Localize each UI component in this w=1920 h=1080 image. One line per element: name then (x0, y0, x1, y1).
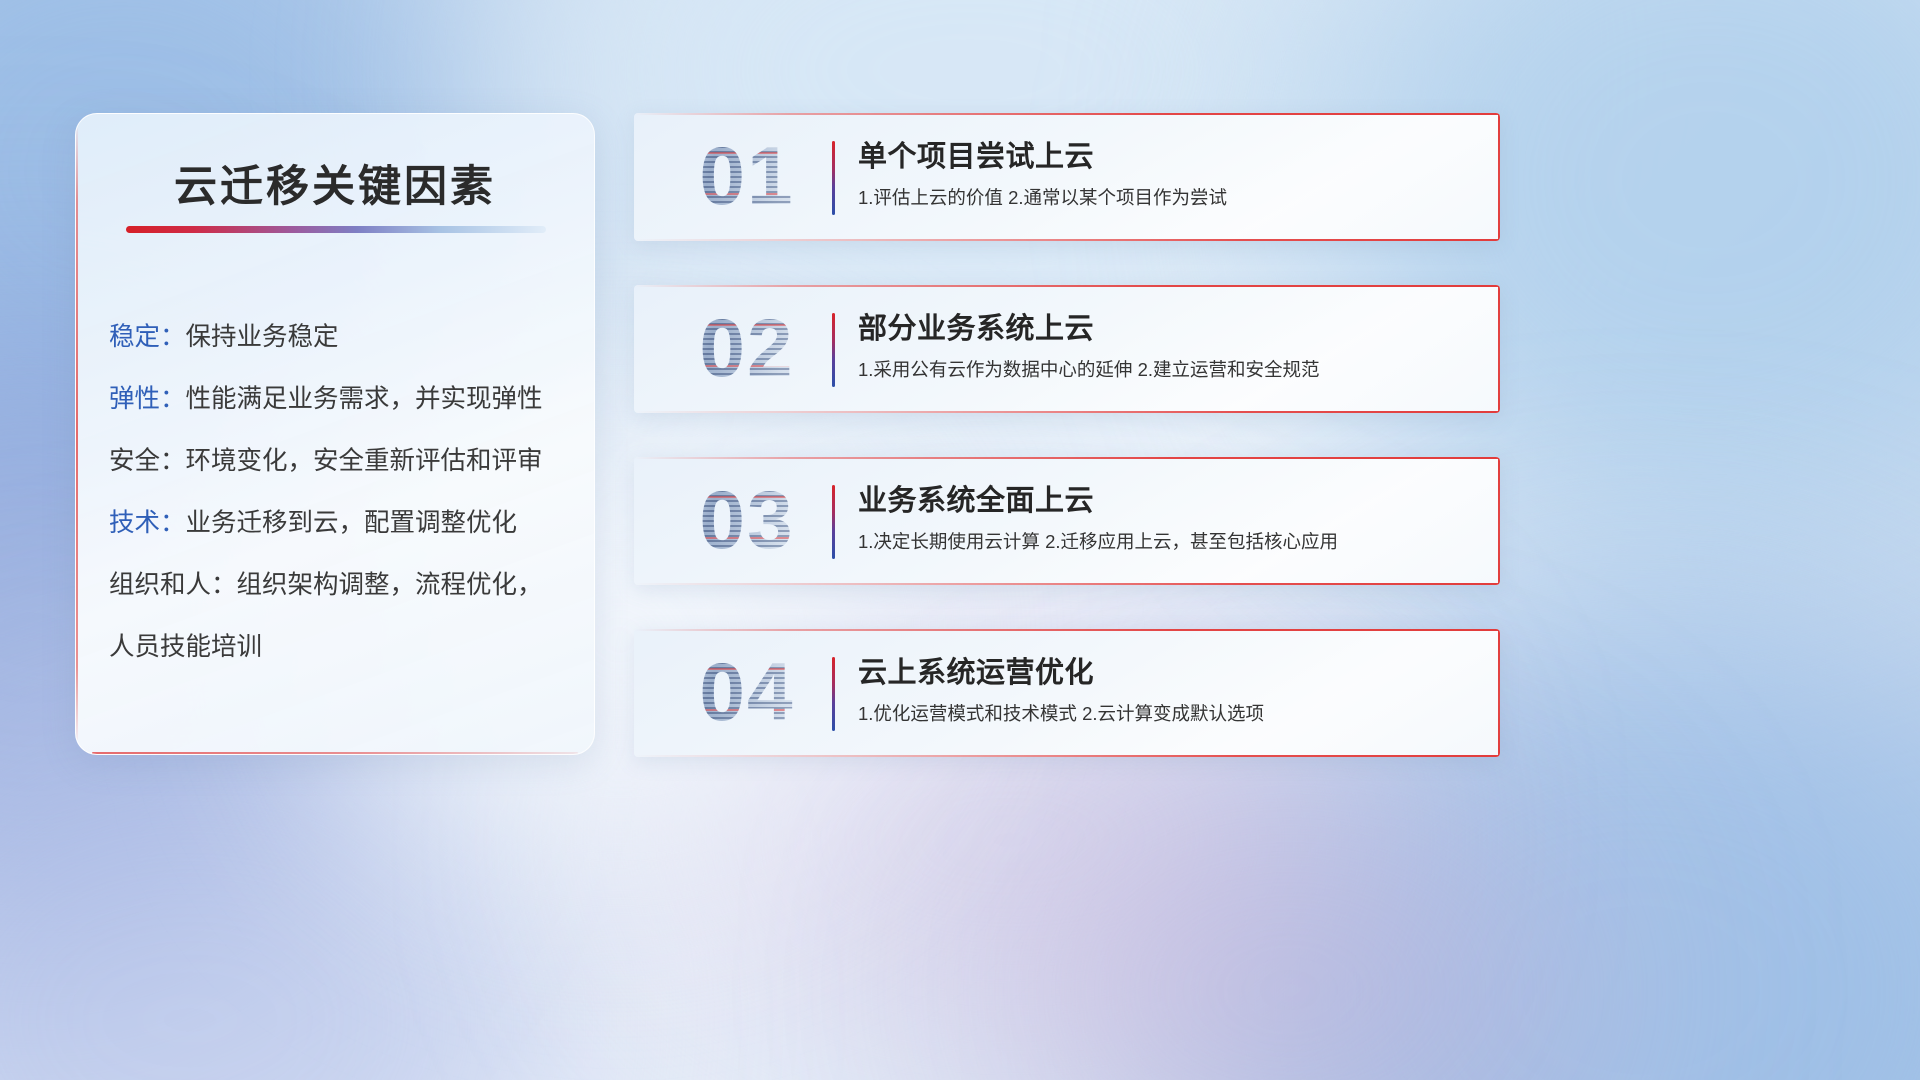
stage-text-block: 部分业务系统上云1.采用公有云作为数据中心的延伸 2.建立运营和安全规范 (858, 309, 1482, 383)
key-factor-description: 性能满足业务需求，并实现弹性 (186, 385, 543, 413)
key-factor-label: 技术： (109, 509, 186, 537)
key-factor-label: 稳定： (109, 323, 186, 351)
stage-number-ghost: 03 (662, 480, 832, 562)
key-factor-description: 组织架构调整，流程优化， (237, 571, 543, 599)
key-factor-description: 人员技能培训 (109, 633, 262, 661)
stage-number-ghost: 01 (662, 136, 832, 218)
stage-title: 部分业务系统上云 (858, 309, 1482, 349)
background-blob-bottom-left (0, 700, 580, 1080)
key-factor-label: 组织和人： (109, 571, 237, 599)
key-factor-description: 环境变化，安全重新评估和评审 (186, 447, 543, 475)
stage-title: 云上系统运营优化 (858, 653, 1482, 693)
stage-title: 业务系统全面上云 (858, 481, 1482, 521)
stage-divider-bar (832, 657, 835, 731)
stage-divider-bar (832, 485, 835, 559)
page-title: 云迁移关键因素 (76, 152, 594, 214)
key-factor-line: 弹性：性能满足业务需求，并实现弹性 (109, 368, 576, 430)
key-factor-line: 安全：环境变化，安全重新评估和评审 (109, 430, 576, 492)
background-blob-purple-corner (980, 780, 1600, 1080)
stage-text-block: 云上系统运营优化1.优化运营模式和技术模式 2.云计算变成默认选项 (858, 653, 1482, 727)
stage-card[interactable]: 0101单个项目尝试上云1.评估上云的价值 2.通常以某个项目作为尝试 (634, 113, 1500, 241)
card-bottom-accent-line (634, 411, 1500, 413)
key-factor-line: 技术：业务迁移到云，配置调整优化 (109, 492, 576, 554)
stage-text-block: 业务系统全面上云1.决定长期使用云计算 2.迁移应用上云，甚至包括核心应用 (858, 481, 1482, 555)
stage-card[interactable]: 0202部分业务系统上云1.采用公有云作为数据中心的延伸 2.建立运营和安全规范 (634, 285, 1500, 413)
stage-card-list: 0101单个项目尝试上云1.评估上云的价值 2.通常以某个项目作为尝试0202部… (634, 113, 1500, 801)
key-factors-list: 稳定：保持业务稳定弹性：性能满足业务需求，并实现弹性安全：环境变化，安全重新评估… (109, 306, 576, 678)
key-factor-description: 保持业务稳定 (186, 323, 339, 351)
card-bottom-accent-line (634, 583, 1500, 585)
stage-subtitle: 1.采用公有云作为数据中心的延伸 2.建立运营和安全规范 (858, 357, 1482, 383)
key-factor-line: 组织和人：组织架构调整，流程优化， (109, 554, 576, 616)
key-factor-label: 安全： (109, 447, 186, 475)
card-bottom-accent-line (634, 239, 1500, 241)
stage-subtitle: 1.决定长期使用云计算 2.迁移应用上云，甚至包括核心应用 (858, 529, 1482, 555)
key-factor-label: 弹性： (109, 385, 186, 413)
card-bottom-accent-line (634, 755, 1500, 757)
stage-subtitle: 1.评估上云的价值 2.通常以某个项目作为尝试 (858, 185, 1482, 211)
key-factors-panel: 云迁移关键因素 稳定：保持业务稳定弹性：性能满足业务需求，并实现弹性安全：环境变… (75, 113, 595, 755)
key-factor-description: 业务迁移到云，配置调整优化 (186, 509, 518, 537)
slide-canvas: 云迁移关键因素 稳定：保持业务稳定弹性：性能满足业务需求，并实现弹性安全：环境变… (0, 0, 1920, 1080)
key-factor-line: 稳定：保持业务稳定 (109, 306, 576, 368)
stage-card[interactable]: 0404云上系统运营优化1.优化运营模式和技术模式 2.云计算变成默认选项 (634, 629, 1500, 757)
stage-divider-bar (832, 313, 835, 387)
stage-number-ghost: 04 (662, 652, 832, 734)
stage-divider-bar (832, 141, 835, 215)
key-factor-line: 人员技能培训 (109, 616, 576, 678)
stage-title: 单个项目尝试上云 (858, 137, 1482, 177)
stage-subtitle: 1.优化运营模式和技术模式 2.云计算变成默认选项 (858, 701, 1482, 727)
stage-card[interactable]: 0303业务系统全面上云1.决定长期使用云计算 2.迁移应用上云，甚至包括核心应… (634, 457, 1500, 585)
title-underline-gradient (126, 226, 546, 233)
stage-text-block: 单个项目尝试上云1.评估上云的价值 2.通常以某个项目作为尝试 (858, 137, 1482, 211)
stage-number-ghost: 02 (662, 308, 832, 390)
